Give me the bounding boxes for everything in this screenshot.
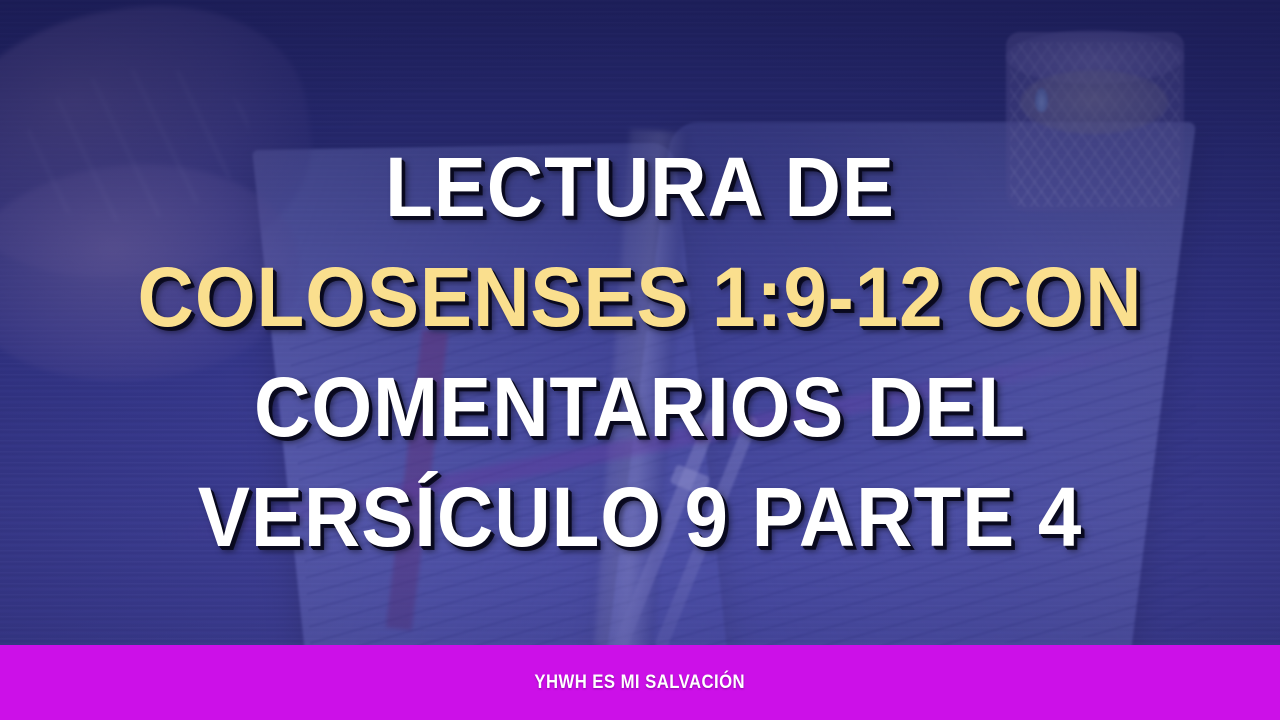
channel-footer-bar: YHWH ES MI SALVACIÓN xyxy=(0,645,1280,720)
title-line-1: LECTURA DE xyxy=(45,132,1235,242)
title-line-2: COLOSENSES 1:9-12 CON xyxy=(45,242,1235,352)
thumbnail-title: LECTURA DE COLOSENSES 1:9-12 CON COMENTA… xyxy=(0,132,1280,572)
title-line-4: VERSÍCULO 9 PARTE 4 xyxy=(45,462,1235,572)
title-line-3: COMENTARIOS DEL xyxy=(45,352,1235,462)
channel-name-label: YHWH ES MI SALVACIÓN xyxy=(535,672,746,694)
video-thumbnail: LECTURA DE COLOSENSES 1:9-12 CON COMENTA… xyxy=(0,0,1280,720)
